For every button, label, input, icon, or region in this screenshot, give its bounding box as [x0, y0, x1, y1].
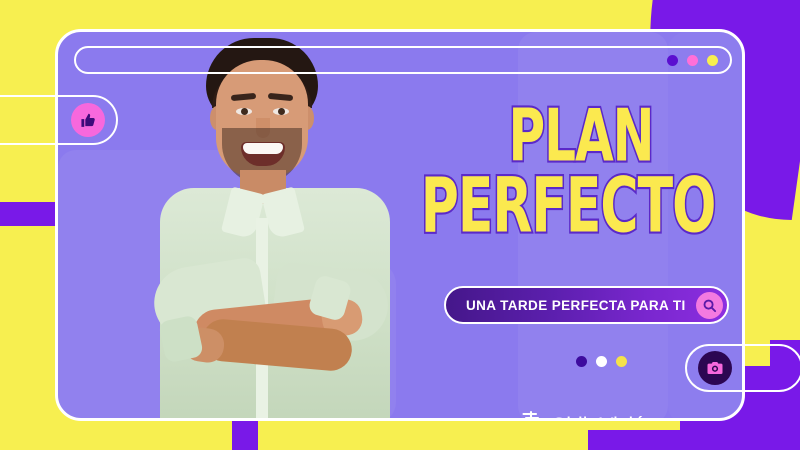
search-icon[interactable] — [696, 292, 723, 319]
hero-headline: PLAN PERFECTO — [388, 104, 745, 221]
chilevision-logo-text: ChileVisión — [551, 414, 657, 422]
camera-tab[interactable] — [685, 344, 800, 392]
browser-address-bar[interactable] — [74, 46, 732, 74]
tagline-pill[interactable]: UNA TARDE PERFECTA PARA TI — [444, 286, 729, 324]
carousel-dot-3[interactable] — [616, 356, 627, 367]
camera-icon[interactable] — [698, 351, 732, 385]
chilevision-logo-icon — [520, 410, 542, 421]
headline-line-2: PERFECTO — [388, 175, 745, 241]
thumbs-up-icon[interactable] — [71, 103, 105, 137]
like-tab[interactable] — [0, 95, 118, 145]
eye-right — [273, 108, 289, 115]
eye-left — [236, 108, 252, 115]
carousel-dot-2[interactable] — [596, 356, 607, 367]
window-dot-yellow[interactable] — [707, 55, 718, 66]
hero-browser-card: PLAN PERFECTO UNA TARDE PERFECTA PARA TI — [55, 29, 745, 421]
window-dot-pink[interactable] — [687, 55, 698, 66]
talent-photo — [98, 32, 418, 421]
chilevision-logo: ChileVisión — [520, 410, 657, 421]
background-bar-bottom-1 — [232, 420, 258, 450]
window-dot-purple[interactable] — [667, 55, 678, 66]
headline-line-1: PLAN — [414, 104, 745, 168]
carousel-dot-1[interactable] — [576, 356, 587, 367]
carousel-dots[interactable] — [576, 356, 627, 367]
tagline-text: UNA TARDE PERFECTA PARA TI — [466, 298, 686, 313]
teeth — [243, 143, 283, 154]
